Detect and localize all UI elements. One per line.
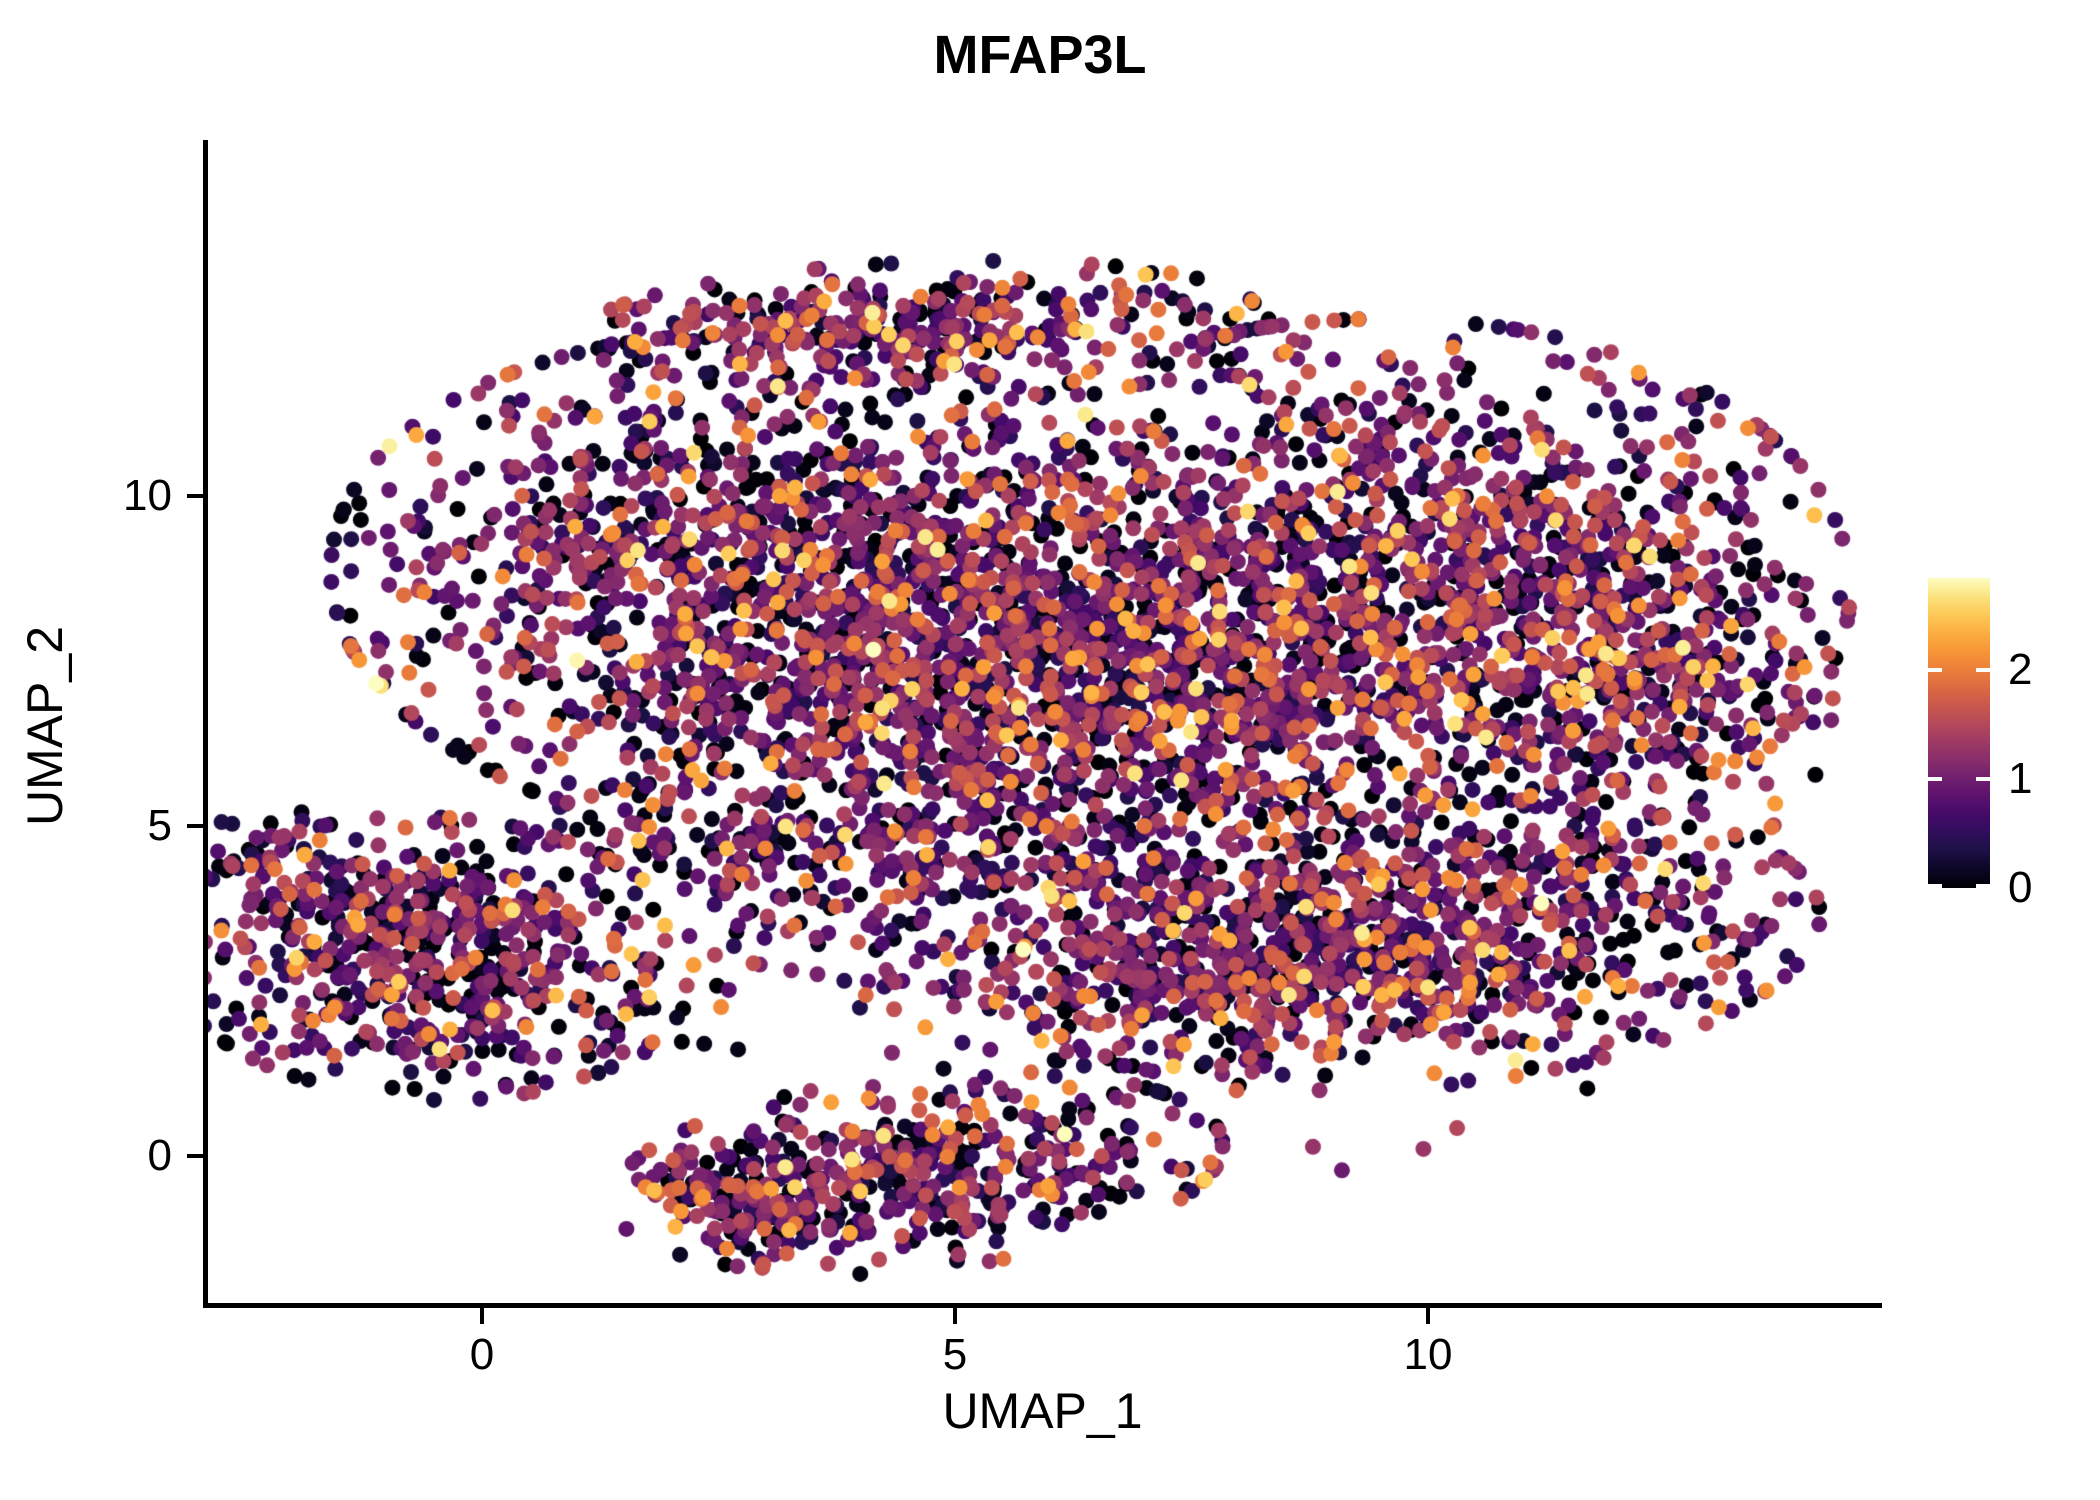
x-axis-line — [203, 1303, 1882, 1308]
colorbar-tick-mark — [1976, 884, 1990, 888]
x-tick-mark — [953, 1308, 957, 1324]
colorbar-tick-mark — [1928, 884, 1942, 888]
y-tick-label: 0 — [0, 1131, 172, 1181]
page-title: MFAP3L — [0, 24, 2080, 86]
colorbar-legend[interactable]: 210 — [1928, 578, 2088, 890]
y-tick-mark — [187, 824, 203, 828]
colorbar-tick-mark — [1976, 777, 1990, 781]
figure-root: MFAP3L 0510 0510 UMAP_1 UMAP_2 210 — [0, 0, 2100, 1500]
y-axis-title: UMAP_2 — [16, 376, 74, 1076]
colorbar-tick-mark — [1928, 668, 1942, 672]
colorbar-tick-label: 1 — [2008, 754, 2032, 804]
x-tick-label: 5 — [943, 1330, 967, 1380]
scatter-plot-canvas[interactable] — [203, 140, 1882, 1305]
colorbar-tick-mark — [1928, 777, 1942, 781]
x-axis-title: UMAP_1 — [203, 1382, 1882, 1440]
colorbar-tick-label: 0 — [2008, 863, 2032, 913]
x-tick-mark — [480, 1308, 484, 1324]
colorbar-tick-mark — [1976, 668, 1990, 672]
x-tick-label: 10 — [1403, 1330, 1452, 1380]
y-tick-mark — [187, 494, 203, 498]
x-tick-label: 0 — [470, 1330, 494, 1380]
plot-panel[interactable] — [203, 140, 1882, 1305]
colorbar-tick-label: 2 — [2008, 645, 2032, 695]
y-tick-mark — [187, 1154, 203, 1158]
y-axis-line — [203, 140, 208, 1308]
colorbar-gradient — [1928, 578, 1990, 888]
x-tick-mark — [1426, 1308, 1430, 1324]
